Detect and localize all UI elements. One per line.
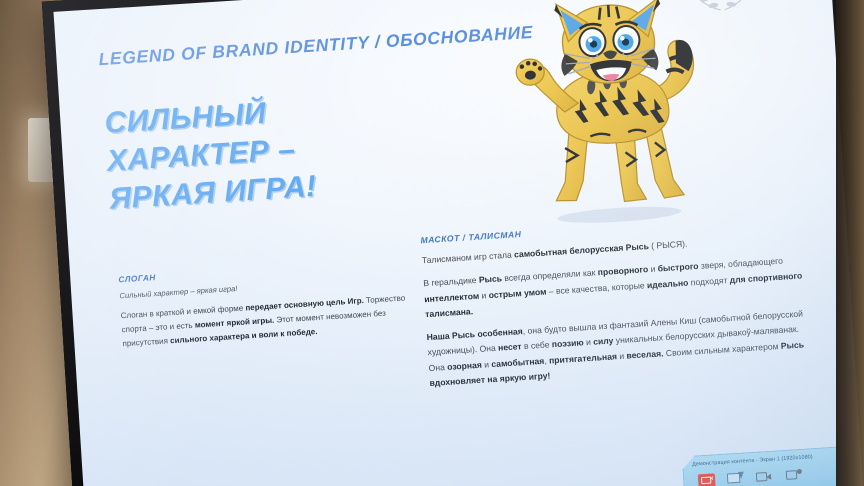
lynx-mascot-illustration [486,0,740,235]
monitor-glyph [727,473,741,484]
share-toolbar-icons: × [698,468,803,486]
camera-icon[interactable] [756,470,774,486]
slogan-body-text: Слоган в краткой и емкой форме передает … [120,290,422,350]
slide-title: LEGEND OF BRAND IDENTITY / ОБОСНОВАНИЕ [98,22,534,70]
slogan-section: СЛОГАН Сильный характер – яркая игра! Сл… [118,257,422,351]
stop-share-icon[interactable]: × [698,473,716,486]
camera-lens-glyph [766,473,771,479]
mascot-section: МАСКОТ / ТАЛИСМАН Талисманом игр стала с… [420,211,815,399]
more-dot-glyph [797,469,802,474]
mascot-paragraph-3: Наша Рысь особенная, она будто вышла из … [426,306,814,391]
screen-share-icon[interactable] [727,472,745,486]
slide-canvas: LEGEND OF BRAND IDENTITY / ОБОСНОВАНИЕ B… [54,0,864,486]
share-session-title: Демонстрация контента - Экран 1 (1920x10… [692,454,813,468]
more-body-glyph [786,470,798,480]
presentation-display: LEGEND OF BRAND IDENTITY / ОБОСНОВАНИЕ B… [42,0,864,486]
stop-share-x-glyph: × [709,475,714,482]
display-screen[interactable]: LEGEND OF BRAND IDENTITY / ОБОСНОВАНИЕ B… [54,0,864,486]
slide-headline: СИЛЬНЫЙ ХАРАКТЕР – ЯРКАЯ ИГРА! [103,92,317,218]
foreground-post [836,0,864,486]
more-options-icon[interactable] [785,468,803,484]
